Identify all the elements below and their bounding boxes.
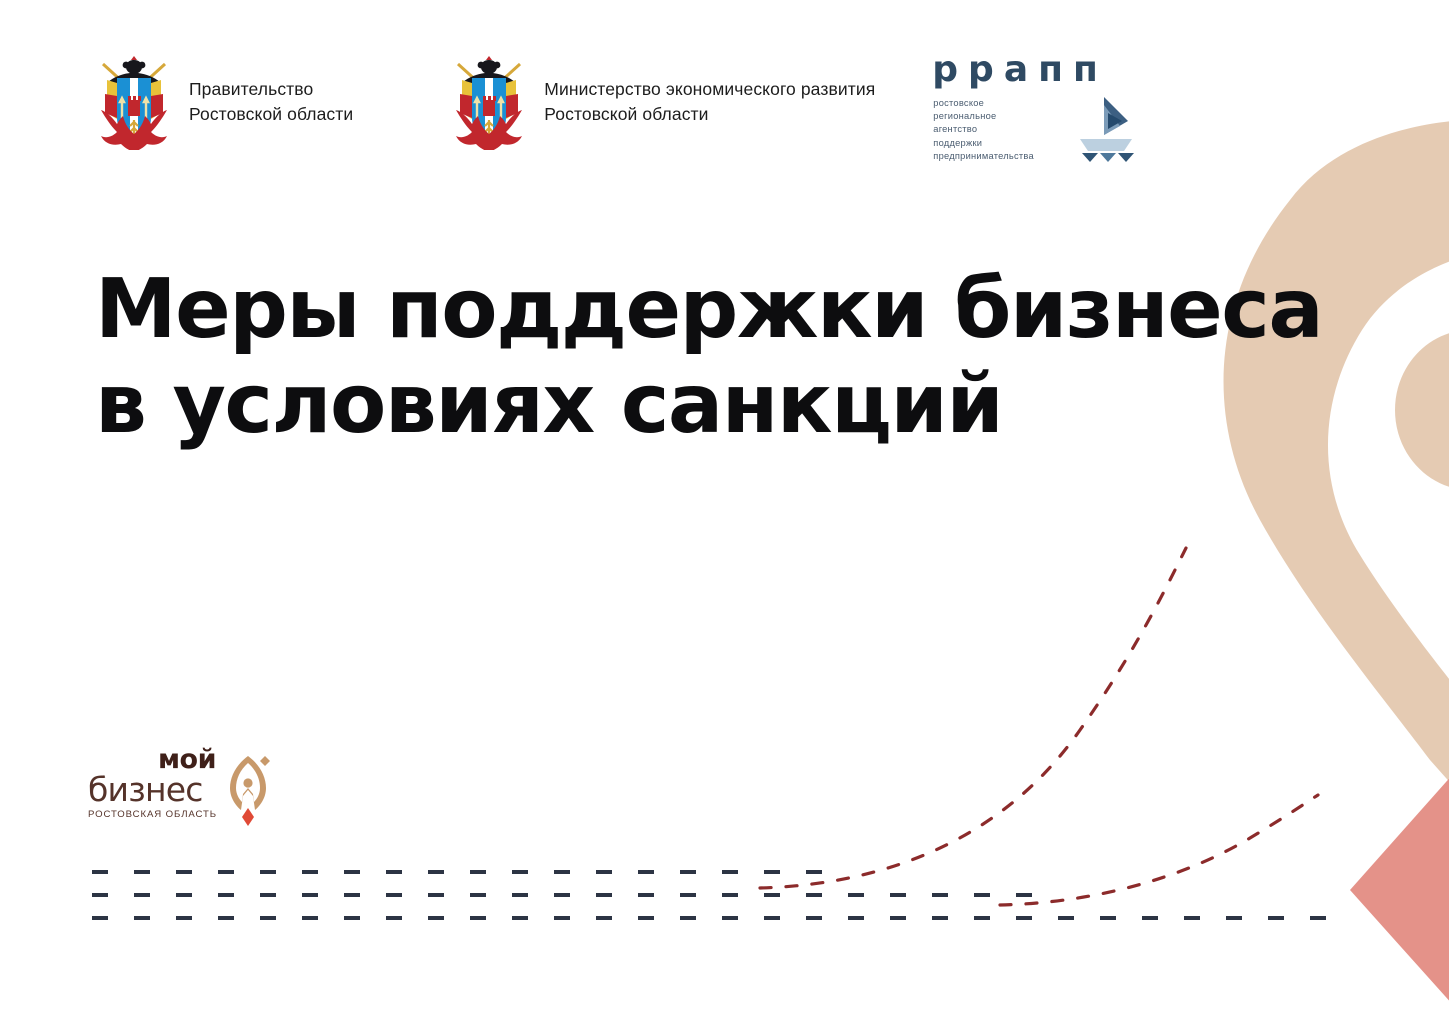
logo-ministry-line1: Министерство экономического развития bbox=[544, 79, 875, 99]
pin-outline-shape bbox=[1224, 120, 1449, 805]
page-title: Меры поддержки бизнеса в условиях санкци… bbox=[95, 262, 1215, 452]
growth-curve-shallow bbox=[1000, 795, 1318, 905]
slide-canvas: Правительство Ростовской области bbox=[0, 0, 1449, 1024]
logo-rrapp: ррапп ростовское региональное агентство … bbox=[930, 52, 1130, 163]
page-title-line1: Меры поддержки бизнеса bbox=[95, 262, 1215, 357]
logo-ministry-line2: Ростовской области bbox=[544, 102, 875, 127]
logo-ministry: Министерство экономического развития Рос… bbox=[450, 52, 875, 151]
my-business-word-bottom: бизнес bbox=[88, 774, 220, 805]
page-title-line2: в условиях санкций bbox=[95, 357, 1215, 452]
diamond-shape bbox=[1350, 755, 1449, 1024]
logo-government-line1: Правительство bbox=[189, 79, 313, 99]
growth-curve-steep bbox=[760, 548, 1186, 888]
pin-rocket-icon bbox=[226, 752, 272, 826]
rostov-coat-of-arms-icon bbox=[450, 54, 528, 150]
logo-ministry-text: Министерство экономического развития Рос… bbox=[544, 52, 875, 151]
logo-my-business: мой бизнес РОСТОВСКАЯ ОБЛАСТЬ bbox=[88, 748, 272, 826]
rostov-coat-of-arms-icon bbox=[95, 54, 173, 150]
my-business-region: РОСТОВСКАЯ ОБЛАСТЬ bbox=[88, 809, 220, 820]
logo-government-text: Правительство Ростовской области bbox=[189, 52, 353, 151]
logo-government: Правительство Ростовской области bbox=[95, 52, 353, 151]
rrapp-wordmark: ррапп bbox=[932, 52, 1130, 88]
header-logos: Правительство Ростовской области bbox=[95, 52, 1449, 172]
logo-government-line2: Ростовской области bbox=[189, 102, 353, 127]
sailboat-icon bbox=[1074, 95, 1136, 167]
